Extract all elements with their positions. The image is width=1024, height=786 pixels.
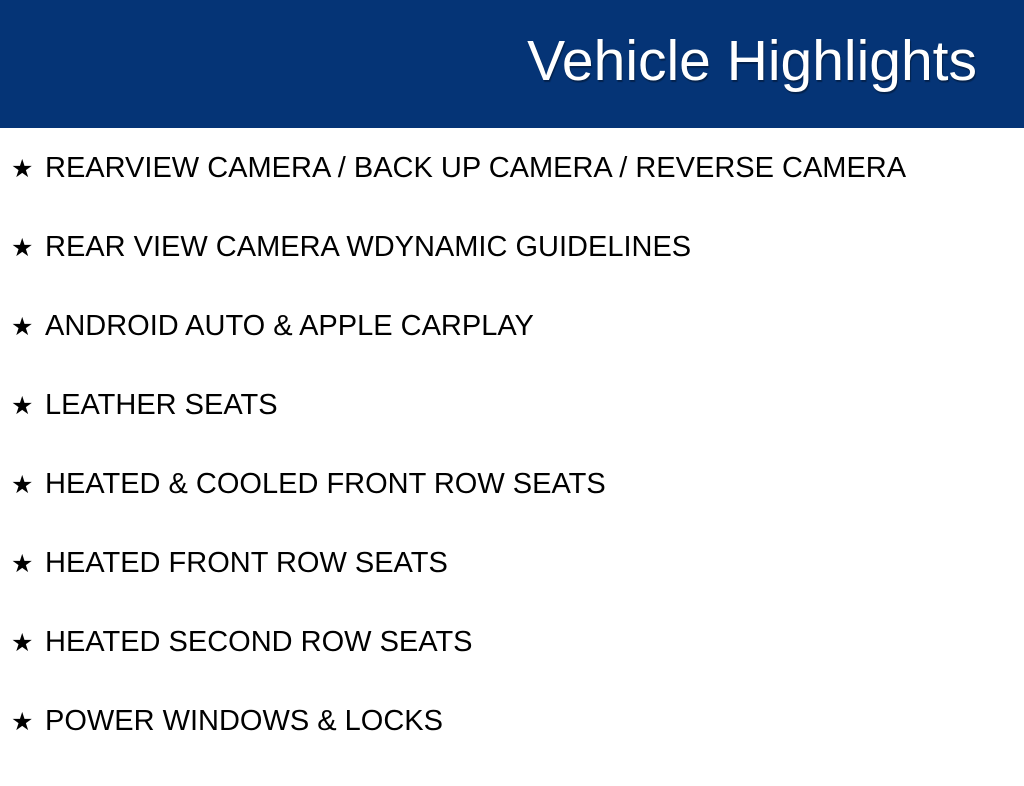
list-item: ★ REARVIEW CAMERA / BACK UP CAMERA / REV… — [0, 128, 1024, 233]
list-item: ★ ANDROID AUTO & APPLE CARPLAY — [0, 312, 1024, 391]
star-icon: ★ — [11, 236, 45, 261]
list-item-label: ANDROID AUTO & APPLE CARPLAY — [45, 312, 534, 341]
page-title: Vehicle Highlights — [527, 33, 1024, 96]
list-item: ★ HEATED FRONT ROW SEATS — [0, 549, 1024, 628]
vehicle-highlights-list: ★ REARVIEW CAMERA / BACK UP CAMERA / REV… — [0, 128, 1024, 786]
list-item-label: HEATED FRONT ROW SEATS — [45, 549, 448, 578]
star-icon: ★ — [11, 157, 45, 182]
list-item: ★ HEATED & COOLED FRONT ROW SEATS — [0, 470, 1024, 549]
list-item-label: HEATED & COOLED FRONT ROW SEATS — [45, 470, 606, 499]
list-item: ★ LEATHER SEATS — [0, 391, 1024, 470]
list-item-label: REAR VIEW CAMERA WDYNAMIC GUIDELINES — [45, 233, 691, 262]
list-item-label: REARVIEW CAMERA / BACK UP CAMERA / REVER… — [45, 154, 906, 183]
vehicle-highlights-slide: Vehicle Highlights ★ REARVIEW CAMERA / B… — [0, 0, 1024, 768]
list-item-label: HEATED SECOND ROW SEATS — [45, 628, 473, 657]
list-item: ★ HEATED SECOND ROW SEATS — [0, 628, 1024, 707]
star-icon: ★ — [11, 552, 45, 577]
list-item-label: LEATHER SEATS — [45, 391, 278, 420]
list-item: ★ REAR VIEW CAMERA WDYNAMIC GUIDELINES — [0, 233, 1024, 312]
star-icon: ★ — [11, 315, 45, 340]
header-banner: Vehicle Highlights — [0, 0, 1024, 128]
star-icon: ★ — [11, 473, 45, 498]
list-item: ★ POWER WINDOWS & LOCKS — [0, 707, 1024, 786]
star-icon: ★ — [11, 710, 45, 735]
star-icon: ★ — [11, 631, 45, 656]
list-item-label: POWER WINDOWS & LOCKS — [45, 707, 443, 736]
star-icon: ★ — [11, 394, 45, 419]
